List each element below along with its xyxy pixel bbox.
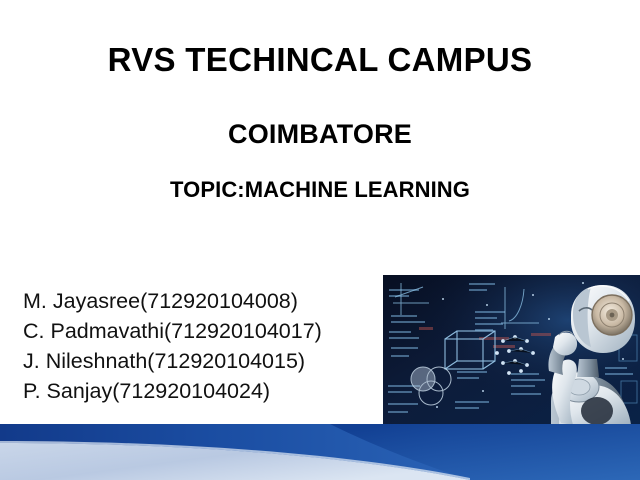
robot-ai-image	[383, 275, 640, 425]
list-item: C. Padmavathi(712920104017)	[23, 316, 373, 346]
bottom-wave-decoration	[0, 420, 640, 480]
list-item: M. Jayasree(712920104008)	[23, 286, 373, 316]
list-item: J. Nileshnath(712920104015)	[23, 346, 373, 376]
subtitle-topic: TOPIC:MACHINE LEARNING	[0, 178, 640, 201]
slide-canvas: RVS TECHINCAL CAMPUS COIMBATORE TOPIC:MA…	[0, 0, 640, 480]
robot-ai-illustration	[383, 275, 640, 425]
authors-list: M. Jayasree(712920104008) C. Padmavathi(…	[23, 286, 373, 406]
subtitle-city: COIMBATORE	[0, 120, 640, 148]
list-item: P. Sanjay(712920104024)	[23, 376, 373, 406]
wave-shapes	[0, 420, 640, 480]
page-title: RVS TECHINCAL CAMPUS	[0, 43, 640, 78]
